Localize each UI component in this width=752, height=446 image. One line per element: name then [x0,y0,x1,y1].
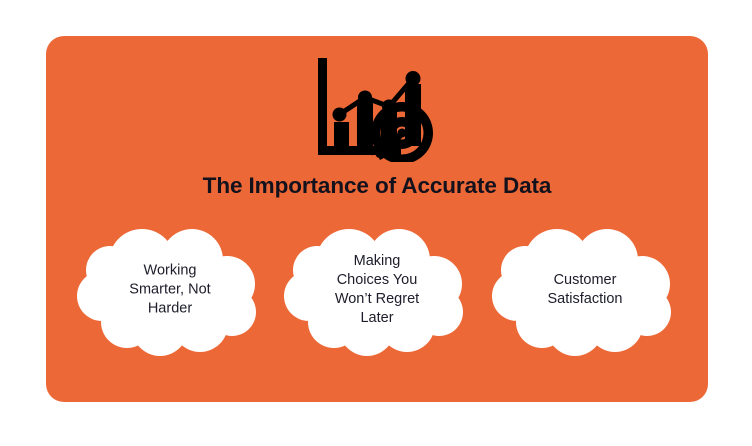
cloud-making-choices[interactable]: Making Choices You Won’t Regret Later [279,224,475,356]
page-title: The Importance of Accurate Data [46,172,708,199]
cloud-label: Customer Satisfaction [521,271,649,309]
orange-card: The Importance of Accurate Data [46,36,708,402]
cloud-row: Working Smarter, Not Harder [46,224,708,364]
cloud-working-smarter[interactable]: Working Smarter, Not Harder [72,224,268,356]
cloud-label: Making Choices You Won’t Regret Later [313,252,441,329]
cloud-label: Working Smarter, Not Harder [106,261,234,318]
bar-chart-line-target-icon [312,56,442,162]
cloud-customer-satisfaction[interactable]: Customer Satisfaction [487,224,683,356]
infographic-canvas: The Importance of Accurate Data [0,0,752,446]
